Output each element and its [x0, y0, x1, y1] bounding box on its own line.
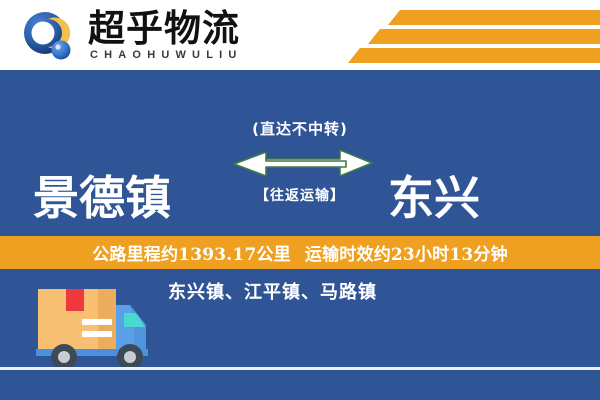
route-note-bottom: 【往返运输】	[255, 188, 345, 204]
route-section: (直达不中转) 景德镇 东兴 【往返运输】	[0, 70, 600, 233]
route-note-top: (直达不中转)	[252, 120, 348, 138]
banner-header: 超乎物流 CHAOHUWULIU	[0, 0, 600, 70]
bottom-divider	[0, 367, 600, 370]
stripe-1	[388, 10, 600, 25]
brand-name-block: 超乎物流 CHAOHUWULIU	[88, 8, 288, 62]
brand-name-cn: 超乎物流	[88, 8, 288, 48]
stripe-3	[348, 48, 600, 63]
bidirectional-arrow-icon	[232, 147, 374, 181]
route-info-bar: 公路里程约1393.17公里 运输时效约23小时13分钟	[0, 236, 600, 269]
stripe-2	[368, 29, 600, 44]
coverage-section: 东兴镇、江平镇、马路镇	[0, 269, 600, 400]
decorative-stripes	[330, 0, 600, 70]
route-note-top-wrap: (直达不中转)	[0, 118, 600, 139]
logistics-route-banner: 超乎物流 CHAOHUWULIU (直达不中转) 景德镇 东兴 【往返运输】	[0, 0, 600, 400]
duration-text: 运输时效约23小时13分钟	[305, 240, 508, 265]
distance-text: 公路里程约1393.17公里	[92, 240, 291, 265]
coverage-towns: 东兴镇、江平镇、马路镇	[168, 281, 377, 305]
route-note-bottom-wrap: 【往返运输】	[0, 185, 600, 205]
brand-name-en: CHAOHUWULIU	[88, 49, 288, 62]
delivery-truck-icon	[26, 275, 166, 373]
circle-q-logo-icon	[22, 11, 74, 63]
